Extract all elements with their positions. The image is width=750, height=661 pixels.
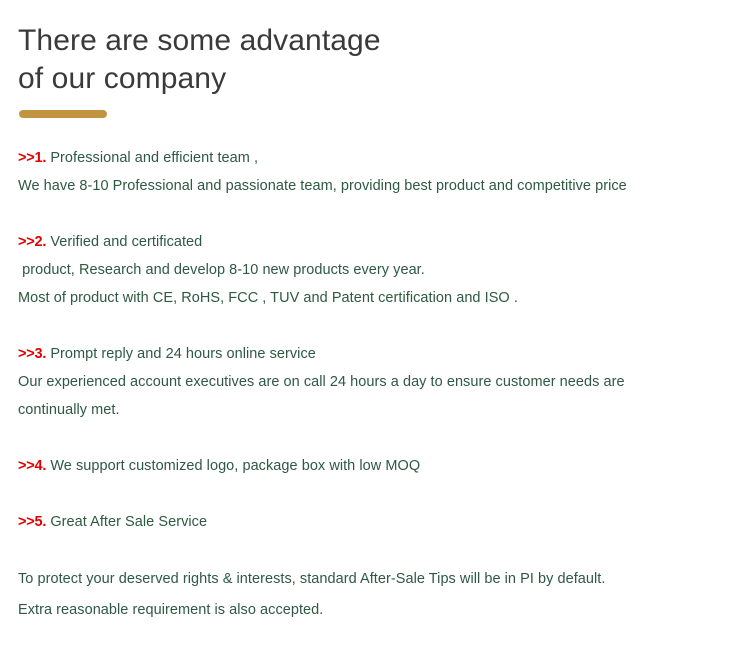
item-headline: >>4. We support customized logo, package… [18, 452, 750, 480]
item-marker: >>5. [18, 514, 46, 530]
item-marker: >>1. [18, 150, 46, 166]
list-item: >>1. Professional and efficient team , W… [18, 144, 750, 200]
item-marker: >>2. [18, 234, 46, 250]
list-item: >>5. Great After Sale Service [18, 508, 750, 536]
closing-line-2: Extra reasonable requirement is also acc… [18, 595, 750, 626]
item-headline: >>3. Prompt reply and 24 hours online se… [18, 340, 750, 368]
list-item: >>3. Prompt reply and 24 hours online se… [18, 340, 750, 424]
page-title: There are some advantage of our company [18, 22, 750, 98]
item-detail-line: Most of product with CE, RoHS, FCC , TUV… [18, 284, 750, 312]
item-headline-text: Verified and certificated [46, 234, 202, 250]
item-detail-line: Our experienced account executives are o… [18, 368, 750, 396]
item-detail-line: continually met. [18, 396, 750, 424]
list-item: >>2. Verified and certificated product, … [18, 228, 750, 312]
item-marker: >>4. [18, 458, 46, 474]
closing-line-1: To protect your deserved rights & intere… [18, 564, 750, 595]
advantages-page: There are some advantage of our company … [0, 0, 750, 661]
closing-paragraph: To protect your deserved rights & intere… [18, 564, 750, 626]
item-headline-text: Prompt reply and 24 hours online service [46, 346, 316, 362]
item-headline-text: We support customized logo, package box … [46, 458, 420, 474]
item-marker: >>3. [18, 346, 46, 362]
item-headline-text: Great After Sale Service [46, 514, 207, 530]
item-detail-line: We have 8-10 Professional and passionate… [18, 172, 750, 200]
item-headline: >>1. Professional and efficient team , [18, 144, 750, 172]
item-headline-text: Professional and efficient team , [46, 150, 258, 166]
list-item: >>4. We support customized logo, package… [18, 452, 750, 480]
item-headline: >>2. Verified and certificated [18, 228, 750, 256]
item-headline: >>5. Great After Sale Service [18, 508, 750, 536]
item-detail-line: product, Research and develop 8-10 new p… [18, 256, 750, 284]
advantages-list: >>1. Professional and efficient team , W… [0, 144, 750, 626]
title-underline-rule [19, 110, 107, 118]
heading-block: There are some advantage of our company [0, 0, 750, 118]
